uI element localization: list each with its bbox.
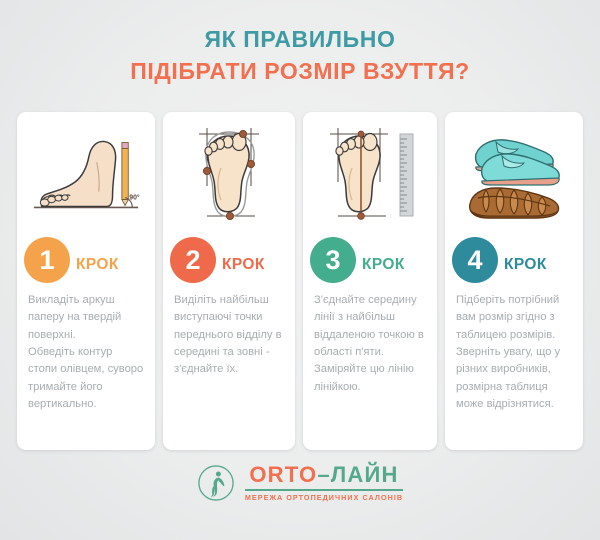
step-number-circle: 4 <box>452 237 498 283</box>
brand-divider <box>245 489 403 491</box>
step-badge-2: 2 КРОК <box>170 234 284 286</box>
step-word-label: КРОК <box>222 256 265 274</box>
step-badge-3: 3 КРОК <box>310 234 426 286</box>
title-line-1: ЯК ПРАВИЛЬНО <box>0 26 600 53</box>
running-figure-in-circle-icon <box>197 464 235 502</box>
step-word-label: КРОК <box>504 256 547 274</box>
illustration-foot-sole-with-markers <box>174 122 284 226</box>
step-number-circle: 2 <box>170 237 216 283</box>
brand-name: ORTO–ЛАЙН <box>249 464 398 486</box>
brand-tagline: МЕРЕЖА ОРТОПЕДИЧНИХ САЛОНІВ <box>245 493 403 502</box>
step-badge-4: 4 КРОК <box>452 234 572 286</box>
brand-name-part-2: –ЛАЙН <box>317 462 398 487</box>
illustration-foot-sole-with-ruler <box>314 122 426 226</box>
step-card-2[interactable]: 2 КРОК Виділіть найбільш виступаючі точк… <box>163 112 295 450</box>
infographic-page: ЯК ПРАВИЛЬНО ПІДІБРАТИ РОЗМІР ВЗУТТЯ? <box>0 0 600 540</box>
brand-footer[interactable]: ORTO–ЛАЙН МЕРЕЖА ОРТОПЕДИЧНИХ САЛОНІВ <box>0 464 600 502</box>
step-description: Виділіть найбільш виступаючі точки перед… <box>174 292 284 379</box>
step-description: З'єднайте середину лінії з найбільш відд… <box>314 292 426 396</box>
step-badge-1: 1 КРОК <box>24 234 144 286</box>
illustration-foot-side-with-pencil: 90° <box>28 122 144 226</box>
angle-label: 90° <box>129 194 140 202</box>
title-line-2: ПІДІБРАТИ РОЗМІР ВЗУТТЯ? <box>0 58 600 85</box>
illustration-shoes-pair <box>456 122 572 226</box>
step-card-3[interactable]: 3 КРОК З'єднайте середину лінії з найбіл… <box>303 112 437 450</box>
brand-name-part-1: ORTO <box>249 462 317 487</box>
step-word-label: КРОК <box>362 256 405 274</box>
step-number-circle: 1 <box>24 237 70 283</box>
brand-lockup: ORTO–ЛАЙН МЕРЕЖА ОРТОПЕДИЧНИХ САЛОНІВ <box>245 464 403 502</box>
page-title: ЯК ПРАВИЛЬНО ПІДІБРАТИ РОЗМІР ВЗУТТЯ? <box>0 0 600 85</box>
step-card-1[interactable]: 90° 1 КРОК Викладіть аркуш паперу на тве… <box>17 112 155 450</box>
step-word-label: КРОК <box>76 256 119 274</box>
step-number-circle: 3 <box>310 237 356 283</box>
steps-container: 90° 1 КРОК Викладіть аркуш паперу на тве… <box>17 112 583 450</box>
step-card-4[interactable]: 4 КРОК Підберіть потрібний вам розмір зг… <box>445 112 583 450</box>
step-description: Викладіть аркуш паперу на твердій поверх… <box>28 292 144 414</box>
step-description: Підберіть потрібний вам розмір згідно з … <box>456 292 572 414</box>
